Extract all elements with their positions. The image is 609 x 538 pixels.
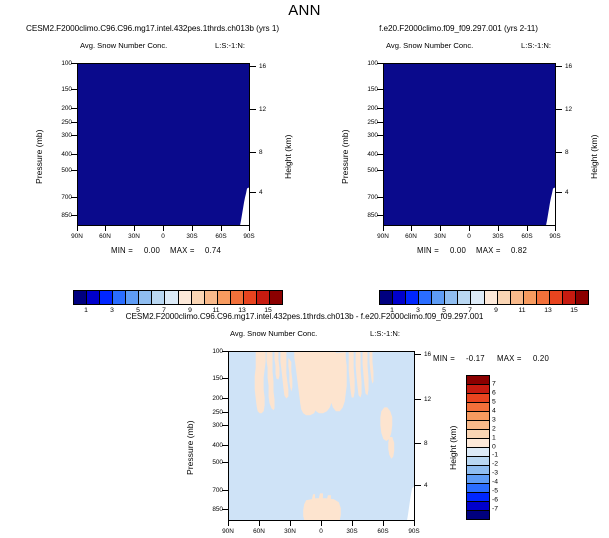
panel-difference-colorbar[interactable] [466,375,490,520]
panel-right-ytickmark-4 [377,135,383,136]
panel-left-ytickmark-r-0 [250,66,256,67]
panel-right-xtickmark-1 [411,226,412,231]
colorbar-segment-14 [563,291,576,304]
panel-left-xtickmark-6 [249,226,250,231]
panel-difference-ytick-7: 700 [201,487,223,494]
colorbar-segment-2 [100,291,113,304]
panel-difference-ytickmark-1 [222,378,228,379]
panel-difference-ytickmark-r-2 [415,443,421,444]
panel-difference-ytick-r-1: 12 [424,396,431,403]
panel-right-ytick-5: 400 [356,151,378,158]
colorbar-tick-label-neg2: -2 [492,461,498,468]
colorbar-tick-label-neg7: -7 [492,506,498,513]
colorbar-segment-15 [270,291,282,304]
panel-left-ytickmark-4 [71,135,77,136]
panel-right-xtick-1: 60N [396,233,426,240]
panel-right-ytick-r-1: 12 [565,106,572,113]
colorbar-segment-8 [467,448,489,457]
panel-left-level-label: L:S:-1:N: [215,41,245,50]
panel-difference-colorbar-labels: 76543210-1-2-3-4-5-6-7 [492,375,516,518]
panel-right-ytick-4: 300 [356,132,378,139]
panel-difference-ylabel-height: Height (km) [448,426,458,470]
panel-right-ytickmark-8 [377,215,383,216]
panel-difference-ytick-0: 100 [201,348,223,355]
panel-difference-ytick-3: 250 [201,409,223,416]
panel-left-min-label: MIN = [111,246,133,255]
panel-left-ytickmark-r-1 [250,109,256,110]
panel-difference-ytick-r-3: 4 [424,482,428,489]
panel-difference-ytickmark-6 [222,462,228,463]
panel-left-plot-area[interactable] [77,63,250,226]
panel-right-xtickmark-3 [469,226,470,231]
panel-left-xtickmark-4 [192,226,193,231]
panel-difference-ytick-8: 850 [201,506,223,513]
panel-left-ytickmark-7 [71,197,77,198]
panel-difference-ytick-r-0: 16 [424,351,431,358]
panel-difference-ytickmark-7 [222,490,228,491]
panel-left-ytickmark-8 [71,215,77,216]
panel-right-xtickmark-0 [383,226,384,231]
colorbar-segment-0 [380,291,393,304]
panel-left-ytick-5: 400 [50,151,72,158]
colorbar-tick-label-7: 7 [492,380,496,387]
panel-difference-case-title: CESM2.F2000climo.C96.C96.mg17.intel.432p… [0,312,609,321]
panel-left-xtickmark-3 [163,226,164,231]
panel-left: CESM2.F2000climo.C96.C96.mg17.intel.432p… [0,24,305,294]
panel-right-ytick-6: 500 [356,167,378,174]
colorbar-segment-1 [467,385,489,394]
colorbar-segment-12 [537,291,550,304]
colorbar-segment-14 [257,291,270,304]
panel-right-variable-label: Avg. Snow Number Conc. [386,41,473,50]
colorbar-segment-15 [467,511,489,519]
panel-difference-ytick-2: 200 [201,395,223,402]
panel-difference-level-label: L:S:-1:N: [370,329,400,338]
panel-right-case-title: f.e20.F2000climo.f09_f09.297.001 (yrs 2-… [308,24,609,33]
panel-difference-xtick-2: 30N [275,528,305,535]
panel-left-min-value: 0.00 [144,246,160,255]
colorbar-segment-10 [467,466,489,475]
panel-difference-ytick-4: 300 [201,422,223,429]
panel-right: f.e20.F2000climo.f09_f09.297.001 (yrs 2-… [308,24,609,294]
panel-right-ytick-7: 700 [356,194,378,201]
panel-left-xtick-0: 90N [62,233,92,240]
panel-right-xtick-2: 30N [425,233,455,240]
panel-left-max-label: MAX = [170,246,195,255]
panel-difference-xtick-6: 90S [399,528,429,535]
colorbar-tick-label-1: 1 [492,434,496,441]
panel-left-ytickmark-5 [71,154,77,155]
panel-right-ytickmark-r-0 [556,66,562,67]
panel-right-ytickmark-5 [377,154,383,155]
panel-right-min-label: MIN = [417,246,439,255]
colorbar-segment-2 [406,291,419,304]
panel-right-ytick-r-2: 8 [565,149,569,156]
panel-right-ytickmark-r-3 [556,192,562,193]
panel-left-ytick-r-1: 12 [259,106,266,113]
colorbar-segment-8 [179,291,192,304]
panel-right-xtick-5: 60S [512,233,542,240]
panel-left-ytickmark-6 [71,170,77,171]
colorbar-segment-7 [471,291,484,304]
panel-right-max-label: MAX = [476,246,501,255]
panel-left-ytickmark-r-3 [250,192,256,193]
panel-right-xtick-3: 0 [454,233,484,240]
panel-difference-ytickmark-0 [222,351,228,352]
panel-right-ytick-3: 250 [356,119,378,126]
panel-left-ylabel-height: Height (km) [283,135,293,179]
panel-right-colorbar[interactable] [379,290,589,305]
panel-right-xtickmark-2 [440,226,441,231]
panel-left-ytick-0: 100 [50,60,72,67]
colorbar-segment-4 [432,291,445,304]
panel-left-xtickmark-0 [77,226,78,231]
panel-left-ytick-r-3: 4 [259,189,263,196]
colorbar-segment-9 [192,291,205,304]
panel-left-xtick-3: 0 [148,233,178,240]
colorbar-segment-10 [205,291,218,304]
panel-left-ytick-6: 500 [50,167,72,174]
colorbar-segment-12 [231,291,244,304]
panel-difference-ytick-r-2: 8 [424,440,428,447]
colorbar-segment-0 [74,291,87,304]
colorbar-segment-4 [467,412,489,421]
colorbar-segment-13 [244,291,257,304]
panel-difference-xtick-3: 0 [306,528,336,535]
colorbar-segment-11 [467,475,489,484]
colorbar-segment-5 [467,421,489,430]
colorbar-segment-2 [467,394,489,403]
colorbar-tick-label-5: 5 [492,398,496,405]
panel-difference-xtick-4: 30S [337,528,367,535]
panel-difference-xtickmark-4 [352,521,353,526]
colorbar-tick-label-3: 3 [492,416,496,423]
panel-right-ytickmark-r-1 [556,109,562,110]
panel-difference-min-value: -0.17 [466,354,485,363]
panel-left-ytick-1: 150 [50,86,72,93]
panel-right-ytickmark-3 [377,122,383,123]
panel-difference-xtickmark-0 [228,521,229,526]
panel-difference-plot-area[interactable] [228,351,415,521]
panel-left-xtick-4: 30S [177,233,207,240]
colorbar-segment-13 [467,493,489,502]
colorbar-segment-10 [511,291,524,304]
panel-right-ytick-8: 850 [356,212,378,219]
panel-right-ytick-r-3: 4 [565,189,569,196]
panel-right-ytickmark-7 [377,197,383,198]
panel-left-ytick-2: 200 [50,105,72,112]
panel-right-min-value: 0.00 [450,246,466,255]
colorbar-tick-label-neg3: -3 [492,470,498,477]
panel-difference-ytick-6: 500 [201,459,223,466]
panel-right-contour-field [384,64,555,225]
panel-left-ytickmark-r-2 [250,152,256,153]
panel-right-ytick-2: 200 [356,105,378,112]
panel-difference-xtickmark-2 [290,521,291,526]
page-title: ANN [0,2,609,19]
panel-left-ytick-r-2: 8 [259,149,263,156]
colorbar-segment-3 [113,291,126,304]
colorbar-segment-9 [467,457,489,466]
colorbar-segment-1 [87,291,100,304]
panel-right-ytickmark-0 [377,63,383,64]
colorbar-segment-6 [152,291,165,304]
panel-difference-max-label: MAX = [497,354,522,363]
panel-left-ytickmark-0 [71,63,77,64]
panel-difference-xtick-0: 90N [213,528,243,535]
panel-left-xtickmark-1 [105,226,106,231]
panel-left-ytickmark-1 [71,89,77,90]
colorbar-segment-5 [445,291,458,304]
colorbar-segment-6 [458,291,471,304]
panel-left-xtickmark-5 [221,226,222,231]
colorbar-segment-9 [498,291,511,304]
panel-difference-ytick-5: 400 [201,442,223,449]
panel-left-ytick-7: 700 [50,194,72,201]
panel-difference-max-value: 0.20 [533,354,549,363]
panel-difference-xtickmark-1 [259,521,260,526]
panel-left-contour-field [78,64,249,225]
panel-left-ytickmark-3 [71,122,77,123]
panel-right-ylabel-height: Height (km) [589,135,599,179]
panel-left-ytickmark-2 [71,108,77,109]
colorbar-segment-3 [467,403,489,412]
panel-difference-ytickmark-3 [222,412,228,413]
panel-left-xtick-6: 90S [234,233,264,240]
panel-difference-ylabel-pressure: Pressure (mb) [185,421,195,475]
colorbar-tick-label-neg6: -6 [492,497,498,504]
colorbar-segment-13 [550,291,563,304]
colorbar-segment-7 [467,439,489,448]
panel-difference-xtickmark-6 [414,521,415,526]
colorbar-segment-7 [165,291,178,304]
panel-difference-ytickmark-r-3 [415,485,421,486]
panel-left-colorbar[interactable] [73,290,283,305]
colorbar-tick-label-neg5: -5 [492,488,498,495]
colorbar-segment-15 [576,291,588,304]
panel-difference-xtick-5: 60S [368,528,398,535]
panel-right-xtick-4: 30S [483,233,513,240]
colorbar-segment-11 [524,291,537,304]
panel-left-variable-label: Avg. Snow Number Conc. [80,41,167,50]
panel-difference-xtickmark-5 [383,521,384,526]
panel-difference-variable-label: Avg. Snow Number Conc. [230,329,317,338]
panel-difference-ytickmark-r-0 [415,354,421,355]
panel-right-max-value: 0.82 [511,246,527,255]
panel-right-xtick-6: 90S [540,233,570,240]
panel-left-xtickmark-2 [134,226,135,231]
panel-right-ytick-1: 150 [356,86,378,93]
panel-left-xtick-1: 60N [90,233,120,240]
panel-left-ytick-r-0: 16 [259,63,266,70]
colorbar-segment-11 [218,291,231,304]
colorbar-tick-label-6: 6 [492,389,496,396]
panel-right-level-label: L:S:-1:N: [521,41,551,50]
panel-right-ylabel-pressure: Pressure (mb) [340,130,350,184]
colorbar-tick-label-2: 2 [492,425,496,432]
colorbar-tick-label-0: 0 [492,443,496,450]
colorbar-segment-1 [393,291,406,304]
colorbar-segment-8 [485,291,498,304]
panel-right-xtickmark-6 [555,226,556,231]
colorbar-segment-4 [126,291,139,304]
panel-difference-contour-field [229,352,414,520]
panel-left-ytick-3: 250 [50,119,72,126]
colorbar-segment-14 [467,502,489,511]
panel-difference-ytickmark-8 [222,509,228,510]
panel-right-ytick-0: 100 [356,60,378,67]
colorbar-segment-3 [419,291,432,304]
panel-right-ytickmark-r-2 [556,152,562,153]
colorbar-segment-0 [467,376,489,385]
panel-difference: CESM2.F2000climo.C96.C96.mg17.intel.432p… [0,312,609,538]
colorbar-segment-5 [139,291,152,304]
panel-left-ytick-4: 300 [50,132,72,139]
panel-difference-min-label: MIN = [433,354,455,363]
panel-right-xtickmark-5 [527,226,528,231]
panel-left-ytick-8: 850 [50,212,72,219]
panel-left-xtick-5: 60S [206,233,236,240]
panel-difference-ytickmark-5 [222,445,228,446]
panel-difference-xtickmark-3 [321,521,322,526]
colorbar-tick-label-neg4: -4 [492,479,498,486]
colorbar-tick-label-neg1: -1 [492,452,498,459]
panel-left-ylabel-pressure: Pressure (mb) [34,130,44,184]
panel-difference-ytickmark-4 [222,425,228,426]
panel-difference-ytickmark-2 [222,398,228,399]
colorbar-tick-label-4: 4 [492,407,496,414]
panel-right-xtickmark-4 [498,226,499,231]
panel-right-ytickmark-6 [377,170,383,171]
panel-right-ytickmark-1 [377,89,383,90]
panel-right-plot-area[interactable] [383,63,556,226]
panel-difference-xtick-1: 60N [244,528,274,535]
colorbar-segment-6 [467,430,489,439]
panel-difference-ytick-1: 150 [201,375,223,382]
panel-right-ytick-r-0: 16 [565,63,572,70]
panel-right-xtick-0: 90N [368,233,398,240]
panel-difference-ytickmark-r-1 [415,399,421,400]
colorbar-segment-12 [467,484,489,493]
panel-left-xtick-2: 30N [119,233,149,240]
panel-right-ytickmark-2 [377,108,383,109]
panel-left-case-title: CESM2.F2000climo.C96.C96.mg17.intel.432p… [0,24,305,33]
panel-left-max-value: 0.74 [205,246,221,255]
